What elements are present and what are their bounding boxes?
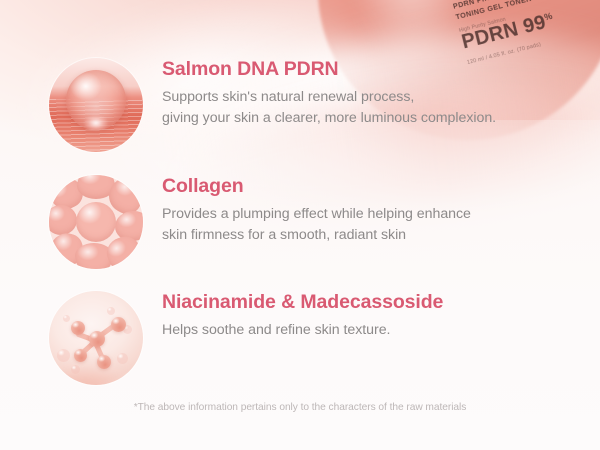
bubble (117, 353, 128, 364)
pink-sphere-water-icon (49, 58, 143, 152)
bubble (57, 349, 70, 362)
ingredient-description: Provides a plumping effect while helping… (162, 204, 471, 244)
ingredient-title: Salmon DNA PDRN (162, 59, 496, 80)
ingredient-list: Salmon DNA PDRN Supports skin's natural … (0, 0, 600, 450)
ingredient-description: Helps soothe and refine skin texture. (162, 320, 443, 340)
molecule-icon (49, 291, 143, 385)
sphere-glow (79, 112, 113, 134)
molecule-atom (71, 321, 85, 335)
molecule-atom-center (89, 331, 105, 347)
molecule-atom (74, 349, 87, 362)
ingredient-infographic: PDRN PINK COLLAGEN TONING GEL TONER PAD … (0, 0, 600, 450)
ingredient-text: Niacinamide & Madecassoside Helps soothe… (162, 291, 443, 341)
bubble (63, 315, 70, 322)
ingredient-description: Supports skin's natural renewal process,… (162, 87, 496, 127)
list-item: Niacinamide & Madecassoside Helps soothe… (0, 291, 600, 385)
bubble (71, 365, 80, 374)
list-item: Collagen Provides a plumping effect whil… (0, 175, 600, 269)
ingredient-title: Collagen (162, 176, 471, 197)
bubble (107, 307, 115, 315)
molecule-atom (97, 355, 111, 369)
ingredient-text: Collagen Provides a plumping effect whil… (162, 175, 471, 245)
ingredient-text: Salmon DNA PDRN Supports skin's natural … (162, 58, 496, 128)
ingredient-title: Niacinamide & Madecassoside (162, 292, 443, 313)
footnote: *The above information pertains only to … (0, 402, 600, 413)
collagen-cells-icon (49, 175, 143, 269)
molecule-atom (111, 317, 126, 332)
collagen-cell-center (76, 202, 116, 242)
list-item: Salmon DNA PDRN Supports skin's natural … (0, 58, 600, 152)
